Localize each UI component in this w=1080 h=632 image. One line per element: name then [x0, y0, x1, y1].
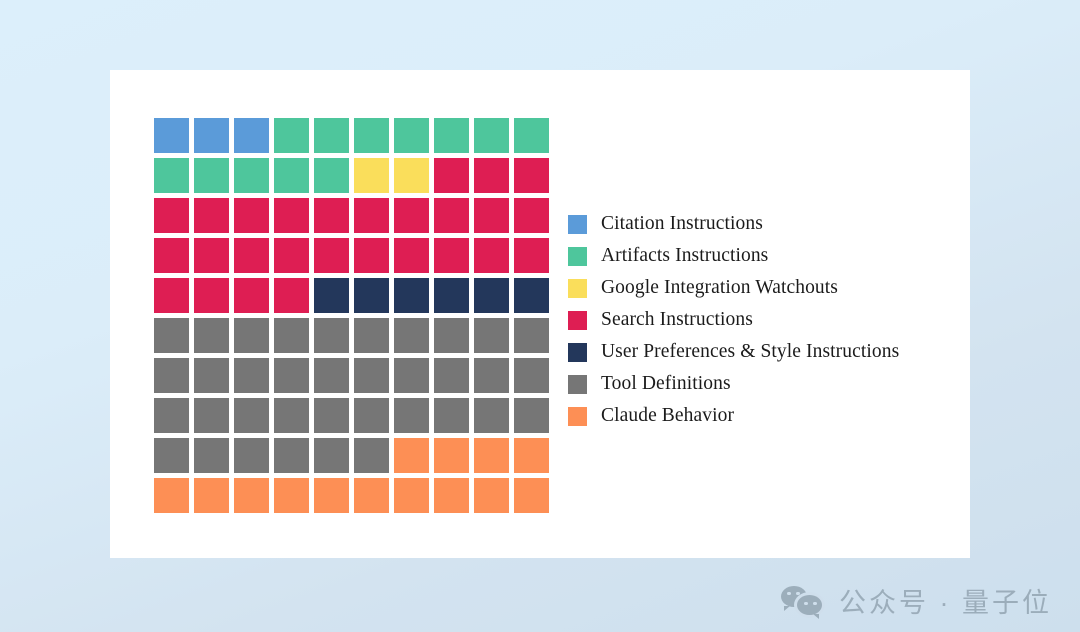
waffle-cell [234, 478, 274, 518]
legend-item[interactable]: Search Instructions [568, 304, 899, 336]
waffle-cell [474, 318, 514, 358]
waffle-cell [434, 478, 474, 518]
waffle-cell-square [314, 358, 349, 393]
legend-item-label: User Preferences & Style Instructions [601, 341, 899, 363]
waffle-cell [394, 358, 434, 398]
waffle-cell-square [154, 478, 189, 513]
legend-swatch-icon [568, 279, 587, 298]
waffle-cell-square [194, 238, 229, 273]
waffle-cell [514, 398, 554, 438]
waffle-cell-square [314, 158, 349, 193]
waffle-cell [434, 358, 474, 398]
waffle-cell [154, 438, 194, 478]
legend-swatch-icon [568, 247, 587, 266]
waffle-cell-square [354, 318, 389, 353]
waffle-cell [514, 158, 554, 198]
waffle-cell [434, 278, 474, 318]
legend-item-label: Citation Instructions [601, 213, 763, 235]
waffle-cell-square [314, 118, 349, 153]
waffle-cell [474, 118, 514, 158]
waffle-cell [394, 198, 434, 238]
waffle-cell [154, 318, 194, 358]
waffle-cell [274, 238, 314, 278]
waffle-cell-square [394, 278, 429, 313]
waffle-cell-square [434, 358, 469, 393]
waffle-cell-square [154, 118, 189, 153]
waffle-cell [474, 438, 514, 478]
waffle-cell-square [234, 398, 269, 433]
waffle-cell-square [234, 158, 269, 193]
waffle-cell-square [194, 198, 229, 233]
waffle-cell-square [234, 238, 269, 273]
waffle-cell-square [354, 158, 389, 193]
waffle-cell-square [354, 358, 389, 393]
waffle-cell [394, 118, 434, 158]
waffle-cell [434, 238, 474, 278]
waffle-cell-square [154, 438, 189, 473]
waffle-cell [394, 238, 434, 278]
waffle-cell-square [194, 118, 229, 153]
waffle-cell [354, 158, 394, 198]
waffle-cell-square [274, 238, 309, 273]
waffle-cell-square [394, 478, 429, 513]
waffle-cell-square [194, 358, 229, 393]
waffle-cell-square [394, 438, 429, 473]
legend-swatch-icon [568, 215, 587, 234]
waffle-cell-square [354, 438, 389, 473]
legend-item-label: Tool Definitions [601, 373, 731, 395]
legend-swatch-icon [568, 407, 587, 426]
waffle-cell-square [314, 318, 349, 353]
waffle-chart-grid [154, 118, 554, 518]
waffle-cell-square [274, 198, 309, 233]
legend-item-label: Claude Behavior [601, 405, 734, 427]
waffle-cell [434, 198, 474, 238]
waffle-cell [314, 358, 354, 398]
waffle-cell-square [434, 118, 469, 153]
waffle-cell-square [314, 398, 349, 433]
waffle-cell [194, 158, 234, 198]
waffle-cell-square [194, 438, 229, 473]
waffle-cell-square [474, 118, 509, 153]
waffle-cell-square [514, 358, 549, 393]
waffle-cell-square [154, 358, 189, 393]
waffle-cell [434, 118, 474, 158]
waffle-cell [154, 238, 194, 278]
waffle-cell-square [154, 398, 189, 433]
waffle-cell [474, 278, 514, 318]
waffle-cell-square [394, 158, 429, 193]
waffle-cell [314, 398, 354, 438]
waffle-cell-square [314, 198, 349, 233]
waffle-cell-square [274, 118, 309, 153]
waffle-cell-square [354, 198, 389, 233]
waffle-cell-square [234, 358, 269, 393]
chart-card: Citation InstructionsArtifacts Instructi… [110, 70, 970, 558]
waffle-cell-square [234, 438, 269, 473]
waffle-cell-square [514, 238, 549, 273]
waffle-cell-square [474, 438, 509, 473]
waffle-cell-square [434, 278, 469, 313]
waffle-cell [274, 158, 314, 198]
waffle-cell [274, 278, 314, 318]
waffle-cell [234, 158, 274, 198]
screenshot-stage: Citation InstructionsArtifacts Instructi… [0, 0, 1080, 632]
legend-swatch-icon [568, 343, 587, 362]
waffle-cell-square [394, 118, 429, 153]
waffle-cell [154, 398, 194, 438]
waffle-cell [194, 278, 234, 318]
legend-swatch-icon [568, 375, 587, 394]
waffle-cell-square [194, 318, 229, 353]
waffle-cell-square [274, 158, 309, 193]
waffle-cell-square [274, 318, 309, 353]
waffle-cell-square [394, 198, 429, 233]
waffle-cell [354, 118, 394, 158]
waffle-cell-square [354, 118, 389, 153]
waffle-cell-square [234, 318, 269, 353]
waffle-cell-square [514, 478, 549, 513]
waffle-cell [274, 318, 314, 358]
legend-item[interactable]: Claude Behavior [568, 400, 899, 432]
waffle-cell [314, 478, 354, 518]
waffle-cell [274, 198, 314, 238]
waffle-cell [274, 438, 314, 478]
waffle-cell [394, 318, 434, 358]
waffle-cell-square [514, 438, 549, 473]
waffle-cell [354, 358, 394, 398]
waffle-cell [194, 238, 234, 278]
waffle-cell-square [234, 118, 269, 153]
waffle-cell-square [434, 438, 469, 473]
waffle-cell-square [194, 278, 229, 313]
waffle-cell [474, 478, 514, 518]
waffle-cell-square [434, 318, 469, 353]
legend-item[interactable]: User Preferences & Style Instructions [568, 336, 899, 368]
waffle-cell-square [154, 318, 189, 353]
waffle-cell [314, 198, 354, 238]
waffle-cell [514, 278, 554, 318]
waffle-cell [194, 478, 234, 518]
waffle-cell [234, 318, 274, 358]
waffle-cell-square [514, 198, 549, 233]
waffle-cell-square [514, 158, 549, 193]
wechat-icon [781, 584, 825, 618]
waffle-cell [474, 198, 514, 238]
waffle-cell [194, 198, 234, 238]
waffle-cell [194, 358, 234, 398]
waffle-cell [354, 398, 394, 438]
waffle-cell-square [474, 318, 509, 353]
waffle-cell-square [434, 158, 469, 193]
waffle-cell-square [274, 358, 309, 393]
waffle-cell [154, 478, 194, 518]
waffle-cell-square [434, 198, 469, 233]
waffle-cell [474, 358, 514, 398]
waffle-cell-square [474, 278, 509, 313]
waffle-cell [474, 158, 514, 198]
waffle-cell [234, 278, 274, 318]
waffle-cell [314, 118, 354, 158]
waffle-cell [514, 358, 554, 398]
waffle-cell [154, 118, 194, 158]
waffle-cell [274, 478, 314, 518]
waffle-cell [514, 238, 554, 278]
waffle-cell [514, 478, 554, 518]
waffle-cell [354, 438, 394, 478]
waffle-cell [514, 318, 554, 358]
waffle-cell-square [514, 398, 549, 433]
watermark: 公众号 · 量子位 [781, 581, 1052, 620]
legend-item[interactable]: Google Integration Watchouts [568, 272, 899, 304]
waffle-cell [314, 278, 354, 318]
waffle-cell [354, 278, 394, 318]
waffle-cell-square [274, 438, 309, 473]
waffle-cell-square [434, 478, 469, 513]
waffle-cell [314, 158, 354, 198]
watermark-text: 公众号 · 量子位 [839, 581, 1052, 620]
waffle-cell-square [154, 278, 189, 313]
legend-item[interactable]: Citation Instructions [568, 208, 899, 240]
waffle-cell-square [154, 198, 189, 233]
waffle-cell-square [194, 478, 229, 513]
waffle-cell [234, 118, 274, 158]
waffle-cell [514, 118, 554, 158]
waffle-cell [394, 398, 434, 438]
waffle-cell-square [394, 398, 429, 433]
legend-item-label: Google Integration Watchouts [601, 277, 838, 299]
waffle-cell-square [314, 238, 349, 273]
waffle-cell-square [194, 158, 229, 193]
waffle-cell [234, 398, 274, 438]
waffle-cell [274, 398, 314, 438]
waffle-cell-square [474, 478, 509, 513]
waffle-cell [354, 198, 394, 238]
waffle-cell [514, 438, 554, 478]
waffle-cell-square [354, 478, 389, 513]
waffle-cell [154, 358, 194, 398]
waffle-cell [234, 438, 274, 478]
waffle-cell [394, 158, 434, 198]
waffle-cell-square [154, 158, 189, 193]
waffle-cell-square [234, 278, 269, 313]
waffle-cell-square [274, 398, 309, 433]
waffle-cell [354, 238, 394, 278]
waffle-cell-square [154, 238, 189, 273]
waffle-cell [354, 478, 394, 518]
legend-item-label: Artifacts Instructions [601, 245, 768, 267]
waffle-cell [434, 318, 474, 358]
waffle-cell [194, 318, 234, 358]
waffle-cell-square [434, 238, 469, 273]
waffle-cell [274, 118, 314, 158]
waffle-cell [154, 198, 194, 238]
waffle-cell [234, 358, 274, 398]
waffle-cell-square [514, 118, 549, 153]
waffle-cell-square [474, 158, 509, 193]
waffle-cell [474, 238, 514, 278]
waffle-cell [394, 278, 434, 318]
waffle-cell [314, 318, 354, 358]
waffle-cell [314, 238, 354, 278]
waffle-cell [394, 478, 434, 518]
waffle-cell-square [474, 398, 509, 433]
waffle-cell-square [434, 398, 469, 433]
waffle-cell-square [394, 318, 429, 353]
legend-item-label: Search Instructions [601, 309, 753, 331]
waffle-cell-square [474, 358, 509, 393]
waffle-cell-square [354, 278, 389, 313]
waffle-cell [274, 358, 314, 398]
waffle-cell [234, 198, 274, 238]
waffle-cell [434, 438, 474, 478]
waffle-cell-square [194, 398, 229, 433]
waffle-cell [234, 238, 274, 278]
waffle-cell [314, 438, 354, 478]
waffle-cell-square [354, 238, 389, 273]
waffle-cell-square [314, 438, 349, 473]
waffle-cell-square [514, 278, 549, 313]
waffle-cell-square [234, 198, 269, 233]
waffle-cell-square [274, 278, 309, 313]
waffle-cell [194, 118, 234, 158]
waffle-cell-square [474, 198, 509, 233]
waffle-cell [154, 158, 194, 198]
waffle-cell-square [314, 478, 349, 513]
waffle-cell-square [514, 318, 549, 353]
waffle-cell [434, 398, 474, 438]
legend-item[interactable]: Artifacts Instructions [568, 240, 899, 272]
waffle-cell [474, 398, 514, 438]
waffle-cell-square [394, 238, 429, 273]
waffle-cell [394, 438, 434, 478]
legend-swatch-icon [568, 311, 587, 330]
waffle-cell-square [394, 358, 429, 393]
waffle-cell [194, 438, 234, 478]
waffle-cell-square [234, 478, 269, 513]
waffle-cell-square [314, 278, 349, 313]
waffle-cell [154, 278, 194, 318]
waffle-cell-square [274, 478, 309, 513]
waffle-cell [434, 158, 474, 198]
waffle-cell [514, 198, 554, 238]
legend-item[interactable]: Tool Definitions [568, 368, 899, 400]
waffle-cell [194, 398, 234, 438]
waffle-cell-square [354, 398, 389, 433]
waffle-cell-square [474, 238, 509, 273]
waffle-cell [354, 318, 394, 358]
chart-legend: Citation InstructionsArtifacts Instructi… [568, 208, 899, 432]
